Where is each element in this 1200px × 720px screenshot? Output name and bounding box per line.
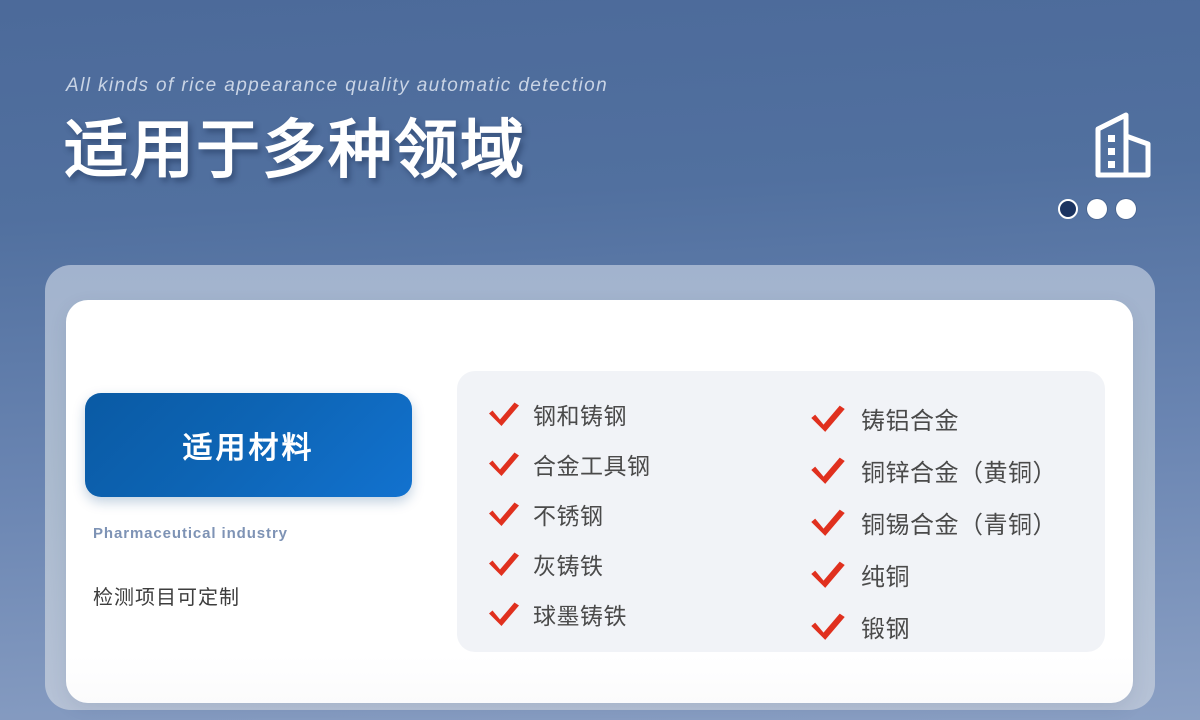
list-item-label: 灰铸铁 [533, 547, 604, 581]
list-item: 铜锡合金（青铜） [809, 503, 1105, 541]
industry-eyebrow: Pharmaceutical industry [93, 525, 288, 542]
carousel-dot-2[interactable] [1087, 199, 1107, 219]
list-item-label: 球墨铸铁 [533, 597, 627, 631]
list-item: 铜锌合金（黄铜） [809, 451, 1105, 489]
materials-column-left: 钢和铸钢 合金工具钢 不锈钢 [457, 371, 797, 652]
list-item-label: 合金工具钢 [533, 447, 651, 481]
check-icon [487, 401, 521, 427]
check-icon [487, 551, 521, 577]
carousel-dot-1[interactable] [1058, 199, 1078, 219]
building-icon [1093, 110, 1153, 180]
list-item: 灰铸铁 [487, 545, 797, 583]
check-icon [809, 508, 847, 537]
list-item: 合金工具钢 [487, 445, 797, 483]
carousel-dots[interactable] [1058, 199, 1136, 219]
check-icon [809, 456, 847, 485]
carousel-dot-3[interactable] [1116, 199, 1136, 219]
slide-root: All kinds of rice appearance quality aut… [0, 0, 1200, 720]
customizable-note: 检测项目可定制 [93, 581, 240, 610]
slide-subtitle: All kinds of rice appearance quality aut… [66, 75, 608, 97]
list-item-label: 不锈钢 [533, 497, 604, 531]
list-item-label: 锻钢 [861, 609, 910, 644]
list-item: 球墨铸铁 [487, 595, 797, 633]
check-icon [487, 601, 521, 627]
list-item-label: 钢和铸钢 [533, 397, 627, 431]
page-title: 适用于多种领域 [64, 117, 526, 184]
materials-panel: 钢和铸钢 合金工具钢 不锈钢 [457, 371, 1105, 652]
check-icon [809, 404, 847, 433]
list-item: 铸铝合金 [809, 399, 1105, 437]
list-item-label: 铜锡合金（青铜） [861, 505, 1057, 540]
check-icon [487, 451, 521, 477]
materials-columns: 钢和铸钢 合金工具钢 不锈钢 [457, 371, 1105, 652]
list-item-label: 纯铜 [861, 557, 910, 592]
check-icon [487, 501, 521, 527]
list-item: 不锈钢 [487, 495, 797, 533]
list-item-label: 铸铝合金 [861, 401, 959, 436]
list-item: 锻钢 [809, 607, 1105, 645]
check-icon [809, 560, 847, 589]
materials-column-right: 铸铝合金 铜锌合金（黄铜） 铜锡合金 [797, 371, 1105, 652]
list-item: 纯铜 [809, 555, 1105, 593]
check-icon [809, 612, 847, 641]
list-item: 钢和铸钢 [487, 395, 797, 433]
applicable-materials-button[interactable]: 适用材料 [85, 393, 412, 497]
list-item-label: 铜锌合金（黄铜） [861, 453, 1057, 488]
